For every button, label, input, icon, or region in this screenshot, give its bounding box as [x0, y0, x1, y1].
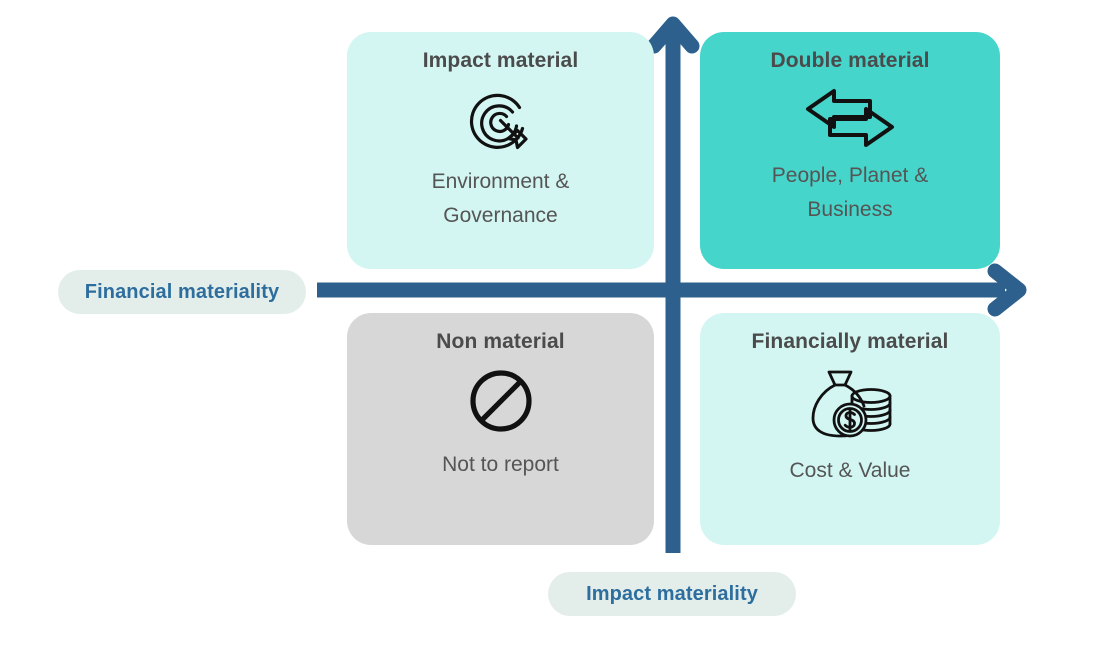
quadrant-non-material[interactable]: Non material Not to report — [347, 313, 654, 545]
quadrant-caption-financially-material: Cost & Value — [789, 450, 910, 488]
axis-label-financial-materiality[interactable]: Financial materiality — [58, 270, 306, 314]
quadrant-title-financially-material: Financially material — [752, 329, 949, 354]
quadrant-title-impact-material: Impact material — [423, 48, 579, 73]
quadrant-title-double-material: Double material — [770, 48, 929, 73]
quadrant-caption-double-material: People, Planet & Business — [735, 159, 965, 226]
quadrant-caption-impact-material: Environment & Governance — [386, 165, 616, 232]
double-materiality-matrix: Impact material Environment & Governance… — [0, 0, 1103, 653]
axis-label-impact-materiality-text: Impact materiality — [586, 583, 758, 606]
prohibited-icon — [468, 368, 534, 434]
axis-label-financial-materiality-text: Financial materiality — [85, 281, 279, 304]
quadrant-double-material[interactable]: Double material People, Planet & Busines… — [700, 32, 1000, 269]
impact-materiality-arrowhead — [995, 271, 1019, 309]
axis-label-impact-materiality[interactable]: Impact materiality — [548, 572, 796, 616]
financial-materiality-arrowhead — [654, 24, 692, 46]
target-arrow-icon — [467, 87, 535, 155]
quadrant-impact-material[interactable]: Impact material Environment & Governance — [347, 32, 654, 269]
quadrant-caption-non-material: Not to report — [442, 444, 559, 482]
quadrant-financially-material[interactable]: Financially material — [700, 313, 1000, 545]
quadrant-title-non-material: Non material — [436, 329, 564, 354]
exchange-arrows-icon — [804, 87, 896, 149]
money-bag-coins-icon — [807, 368, 893, 440]
